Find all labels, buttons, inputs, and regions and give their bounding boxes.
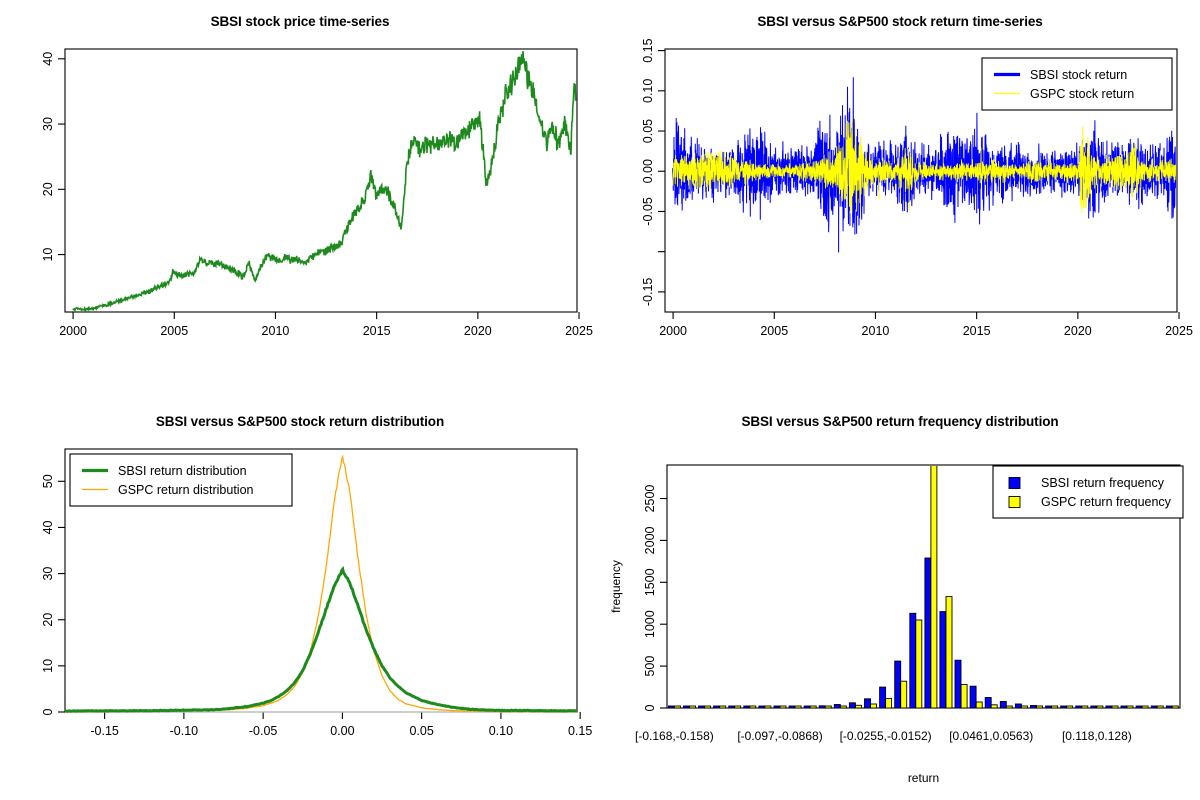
x-tick-label: [-0.0255,-0.0152)	[840, 729, 932, 743]
legend-label: GSPC stock return	[1030, 87, 1134, 101]
histogram-bar	[1136, 706, 1142, 708]
histogram-bar	[886, 698, 892, 708]
histogram-bar	[1127, 706, 1133, 708]
histogram-bar	[970, 686, 976, 708]
return-distribution-plot: -0.15-0.10-0.050.000.050.100.15010203040…	[0, 400, 600, 800]
histogram-bar	[825, 706, 831, 708]
histogram-bar	[1157, 706, 1163, 708]
y-tick-label: 0.10	[641, 79, 655, 103]
histogram-bar	[1061, 706, 1067, 708]
histogram-bar	[976, 702, 982, 708]
y-tick-label: 40	[41, 520, 55, 534]
y-tick-label: 40	[41, 52, 55, 66]
legend: SBSI return distributionGSPC return dist…	[70, 454, 292, 506]
sbsi-price-plot: 20002005201020152020202510203040	[0, 0, 600, 400]
histogram-bar	[1021, 706, 1027, 708]
panel-return-distribution: SBSI versus S&P500 stock return distribu…	[0, 400, 600, 800]
histogram-bar	[1052, 706, 1058, 708]
x-tick-label: [0.118,0.128)	[1062, 729, 1132, 743]
x-tick-label: 2010	[862, 324, 890, 338]
figure-canvas: SBSI stock price time-series 20002005201…	[0, 0, 1200, 800]
y-tick-label: 0	[41, 708, 55, 715]
x-tick-label: 0.00	[330, 724, 354, 738]
histogram-bar	[789, 706, 795, 708]
y-axis: 05001000150020002500	[643, 485, 667, 712]
histogram-bar	[714, 706, 720, 708]
histogram-bar	[1067, 706, 1073, 708]
legend: SBSI return frequencyGSPC return frequen…	[993, 466, 1183, 518]
histogram-bar	[940, 612, 946, 708]
x-tick-label: 2015	[963, 324, 991, 338]
histogram-bar	[699, 706, 705, 708]
x-tick-label: 2000	[59, 324, 87, 338]
legend-box	[70, 454, 292, 506]
histogram-bar	[1151, 706, 1157, 708]
legend: SBSI stock returnGSPC stock return	[982, 58, 1172, 110]
histogram-bar	[961, 685, 967, 709]
histogram-bar	[1082, 706, 1088, 708]
x-tick-label: 0.15	[568, 724, 592, 738]
y-tick-label: -0.15	[641, 278, 655, 307]
histogram-bar	[955, 660, 961, 708]
y-tick-label: 0.05	[641, 119, 655, 143]
legend-label: SBSI return frequency	[1041, 476, 1165, 490]
y-axis: 01020304050	[41, 474, 65, 715]
x-tick-label: [-0.168,-0.158)	[635, 729, 714, 743]
x-tick-label: 2025	[565, 324, 593, 338]
plot-box	[65, 49, 577, 312]
histogram-bar	[735, 706, 741, 708]
y-axis-label: frequency	[609, 560, 623, 613]
y-tick-label: 0.15	[641, 38, 655, 62]
panel-return-timeseries: SBSI versus S&P500 stock return time-ser…	[600, 0, 1200, 400]
histogram-bar	[871, 704, 877, 708]
y-tick-label: 2000	[643, 526, 657, 554]
histogram-bar	[819, 706, 825, 708]
histogram-bar	[668, 706, 674, 708]
y-tick-label: 0	[643, 704, 657, 711]
legend-box	[982, 58, 1172, 110]
x-axis: 200020052010201520202025	[59, 312, 593, 338]
y-tick-label: 1500	[643, 568, 657, 596]
y-tick-label: -0.05	[641, 197, 655, 226]
price-line	[73, 51, 576, 311]
histogram-bar	[765, 706, 771, 708]
histogram-bar	[895, 661, 901, 708]
y-tick-label: 30	[41, 567, 55, 581]
histogram-bar	[946, 597, 952, 708]
return-frequency-plot: 05001000150020002500[-0.168,-0.158)[-0.0…	[600, 400, 1200, 800]
x-tick-label: 2025	[1165, 324, 1193, 338]
histogram-bar	[690, 706, 696, 708]
histogram-bar	[840, 706, 846, 708]
histogram-bar	[901, 681, 907, 708]
x-tick-label: 0.05	[409, 724, 433, 738]
y-tick-label: 20	[41, 182, 55, 196]
histogram-bar	[720, 706, 726, 708]
x-tick-label: 2000	[659, 324, 687, 338]
x-tick-label: -0.10	[170, 724, 199, 738]
x-tick-label: 2005	[760, 324, 788, 338]
histogram-bar	[780, 706, 786, 708]
histogram-bar	[774, 706, 780, 708]
panel-sbsi-price-timeseries: SBSI stock price time-series 20002005201…	[0, 0, 600, 400]
y-tick-label: 500	[643, 656, 657, 677]
histogram-bar	[1097, 706, 1103, 708]
histogram-bar	[1046, 706, 1052, 708]
y-tick-label: 20	[41, 613, 55, 627]
histogram-bar	[729, 706, 735, 708]
histogram-bar	[865, 699, 871, 708]
x-tick-label: 2020	[1064, 324, 1092, 338]
y-tick-label: 2500	[643, 485, 657, 513]
histogram-bar	[1172, 706, 1178, 708]
histogram-bar	[880, 687, 886, 708]
histogram-bar	[916, 620, 922, 708]
legend-label: SBSI stock return	[1030, 68, 1127, 82]
legend-box	[993, 466, 1183, 518]
histogram-bar	[925, 558, 931, 708]
x-tick-label: 0.10	[489, 724, 513, 738]
y-axis: 10203040	[41, 52, 65, 262]
x-axis: [-0.168,-0.158)[-0.097,-0.0868)[-0.0255,…	[635, 729, 1132, 743]
histogram-bar	[1006, 706, 1012, 708]
return-timeseries-plot: 200020052010201520202025-0.15-0.050.000.…	[600, 0, 1200, 400]
x-tick-label: 2010	[262, 324, 290, 338]
x-tick-label: -0.15	[90, 724, 119, 738]
legend-swatch	[1009, 478, 1020, 489]
y-axis: -0.15-0.050.000.050.100.15	[641, 38, 665, 306]
x-tick-label: 2005	[160, 324, 188, 338]
x-axis: -0.15-0.10-0.050.000.050.100.15	[90, 712, 592, 738]
histogram-bar	[804, 706, 810, 708]
histogram-bar	[795, 706, 801, 708]
legend-label: GSPC return frequency	[1041, 495, 1172, 509]
panel-return-frequency-distribution: SBSI versus S&P500 return frequency dist…	[600, 400, 1200, 800]
histogram-bar	[1142, 706, 1148, 708]
histogram-bar	[991, 705, 997, 708]
histogram-bar	[705, 706, 711, 708]
y-tick-label: 50	[41, 474, 55, 488]
x-tick-label: -0.05	[249, 724, 278, 738]
histogram-bar	[1091, 706, 1097, 708]
histogram-bar	[744, 706, 750, 708]
legend-label: GSPC return distribution	[118, 483, 254, 497]
sbsi-density-curve	[65, 569, 577, 711]
histogram-bar	[1076, 706, 1082, 708]
histogram-bar	[1015, 704, 1021, 708]
histogram-bar	[759, 706, 765, 708]
x-axis: 200020052010201520202025	[659, 312, 1193, 338]
x-tick-label: 2015	[363, 324, 391, 338]
histogram-bar	[1031, 706, 1037, 709]
histogram-bar	[931, 465, 937, 708]
y-tick-label: 1000	[643, 610, 657, 638]
histogram-bar	[683, 706, 689, 708]
histogram-bar	[910, 613, 916, 708]
y-tick-label: 10	[41, 248, 55, 262]
histogram-bar	[674, 706, 680, 708]
y-tick-label: 30	[41, 117, 55, 131]
histogram-bar	[1112, 706, 1118, 708]
histogram-bar	[1037, 706, 1043, 708]
x-axis-label: return	[908, 771, 939, 785]
histogram-bar	[985, 698, 991, 709]
x-tick-label: [-0.097,-0.0868)	[737, 729, 822, 743]
y-tick-label: 10	[41, 659, 55, 673]
histogram-bar	[856, 705, 862, 708]
x-tick-label: [0.0461,0.0563)	[949, 729, 1033, 743]
histogram-bar	[750, 706, 756, 708]
histogram-bar	[834, 705, 840, 709]
histogram-bar	[1000, 702, 1006, 709]
histogram-bar	[1166, 706, 1172, 708]
histogram-bar	[1121, 706, 1127, 708]
y-tick-label: 0.00	[641, 159, 655, 183]
histogram-bar	[810, 706, 816, 708]
histogram-bar	[1106, 706, 1112, 708]
histogram-bar	[849, 703, 855, 708]
legend-swatch	[1009, 497, 1020, 508]
legend-label: SBSI return distribution	[118, 464, 247, 478]
x-tick-label: 2020	[464, 324, 492, 338]
